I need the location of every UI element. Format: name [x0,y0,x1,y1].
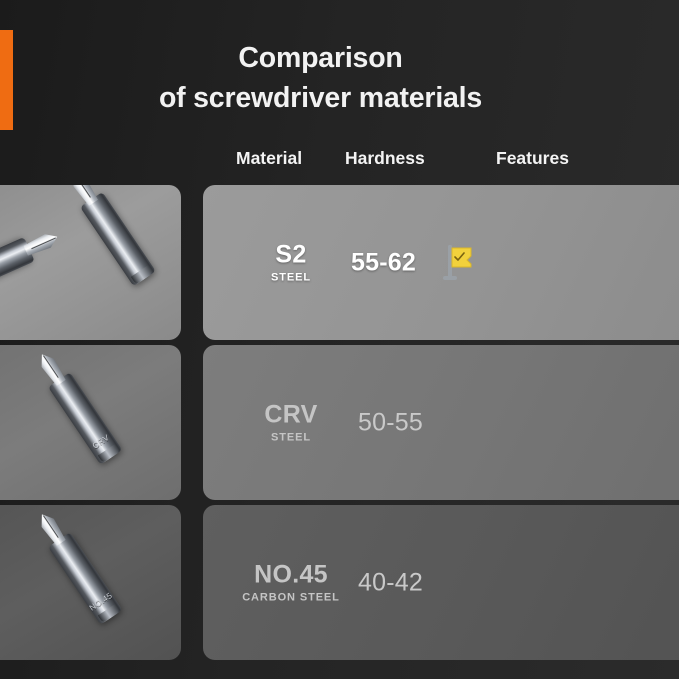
material-subtitle: CARBON STEEL [231,592,351,603]
row-info-panel-s2: S2 STEEL 55-62 Hardest,best,expensive, c… [203,185,679,340]
table-row: S2 S2 STEEL 55-62 [0,185,679,340]
column-headers: Material Hardness Features [0,148,679,174]
bit-label: NO.45 [87,591,114,613]
header: Comparison of screwdriver materials Mate… [0,0,679,185]
material-subtitle: STEEL [246,432,336,443]
table-row: CRV CRV STEEL 50-55 Hood hardness and ab… [0,345,679,500]
comparison-rows: S2 S2 STEEL 55-62 [0,185,679,679]
bit-label: CRV [87,431,114,453]
material-name: NO.45 [231,562,351,587]
material-cell: NO.45 CARBON STEEL [231,562,351,603]
material-name: S2 [246,242,336,267]
hardness-value: 55-62 [351,248,416,277]
material-cell: CRV STEEL [246,402,336,443]
hardness-value: 40-42 [358,568,423,597]
product-image-panel-no45: NO.45 [0,505,181,660]
material-name: CRV [246,402,336,427]
page-title-line-1: Comparison [238,42,402,74]
column-header-material: Material [236,148,302,169]
row-info-panel-crv: CRV STEEL 50-55 Hood hardness and abrasi… [203,345,679,500]
product-image-panel-s2: S2 [0,185,181,340]
page-title: Comparison of screwdriver materials [0,38,679,119]
material-cell: S2 STEEL [246,242,336,283]
column-header-features: Features [496,148,569,169]
table-row: NO.45 NO.45 CARBON STEEL 40-42 Cheap, no… [0,505,679,660]
material-subtitle: STEEL [246,272,336,283]
hardness-value: 50-55 [358,408,423,437]
page-title-line-2: of screwdriver materials [0,78,641,118]
product-image-panel-crv: CRV [0,345,181,500]
infographic-page: Comparison of screwdriver materials Mate… [0,0,679,679]
row-info-panel-no45: NO.45 CARBON STEEL 40-42 Cheap, not hard… [203,505,679,660]
flag-check-icon [441,243,475,283]
column-header-hardness: Hardness [345,148,425,169]
